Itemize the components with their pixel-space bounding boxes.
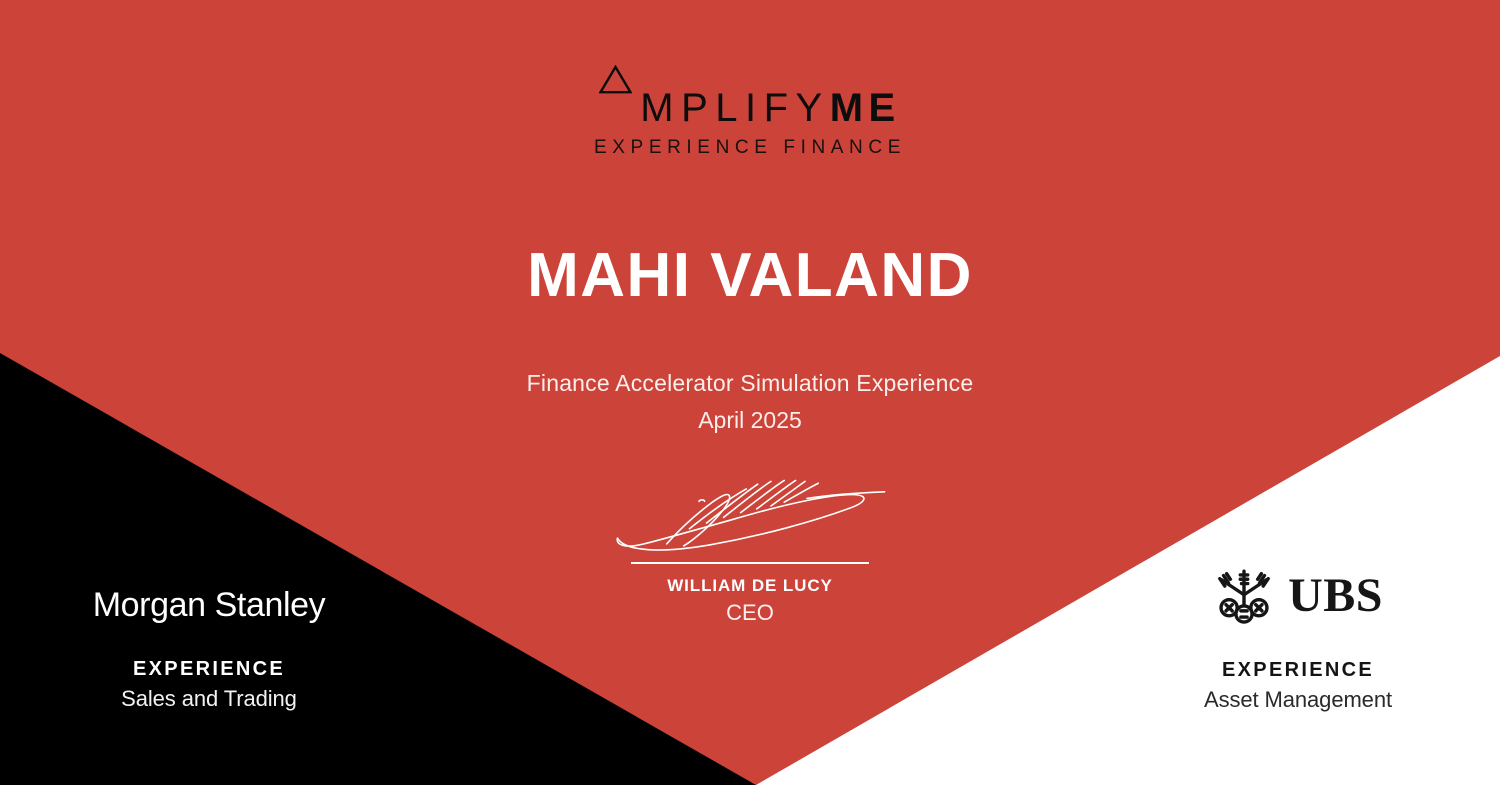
signature-rule	[631, 562, 869, 564]
partner-desk-left: Sales and Trading	[0, 686, 424, 712]
handwritten-signature-icon	[608, 470, 892, 560]
course-date: April 2025	[0, 402, 1500, 439]
signature-block: WILLIAM DE LUCY CEO	[590, 470, 910, 626]
partner-experience-label-left: EXPERIENCE	[0, 658, 424, 681]
partner-block-morgan-stanley: Morgan Stanley EXPERIENCE Sales and Trad…	[0, 588, 424, 712]
ubs-three-keys-icon	[1213, 565, 1275, 627]
partner-experience-label-right: EXPERIENCE	[1083, 659, 1500, 682]
course-details: Finance Accelerator Simulation Experienc…	[0, 366, 1500, 438]
ubs-wordmark: UBS	[1288, 572, 1383, 620]
course-title: Finance Accelerator Simulation Experienc…	[0, 366, 1500, 402]
signatory-role: CEO	[590, 600, 910, 626]
amplifyme-wordmark-light: MPLIFY	[640, 88, 829, 128]
amplifyme-wordmark-bold: ME	[830, 88, 901, 128]
amplifyme-logo: MPLIFY ME EXPERIENCE FINANCE	[0, 88, 1500, 159]
recipient-name: MAHI VALAND	[0, 243, 1500, 310]
triangle-a-icon	[599, 94, 631, 123]
certificate-canvas: MPLIFY ME EXPERIENCE FINANCE MAHI VALAND…	[0, 0, 1500, 785]
amplifyme-tagline: EXPERIENCE FINANCE	[0, 137, 1500, 159]
ubs-logo: UBS	[1083, 565, 1500, 627]
signatory-name: WILLIAM DE LUCY	[590, 576, 910, 596]
amplifyme-wordmark: MPLIFY ME	[599, 88, 900, 128]
partner-block-ubs: UBS EXPERIENCE Asset Management	[1083, 565, 1500, 713]
morgan-stanley-logo: Morgan Stanley	[0, 588, 424, 622]
partner-desk-right: Asset Management	[1083, 687, 1500, 713]
